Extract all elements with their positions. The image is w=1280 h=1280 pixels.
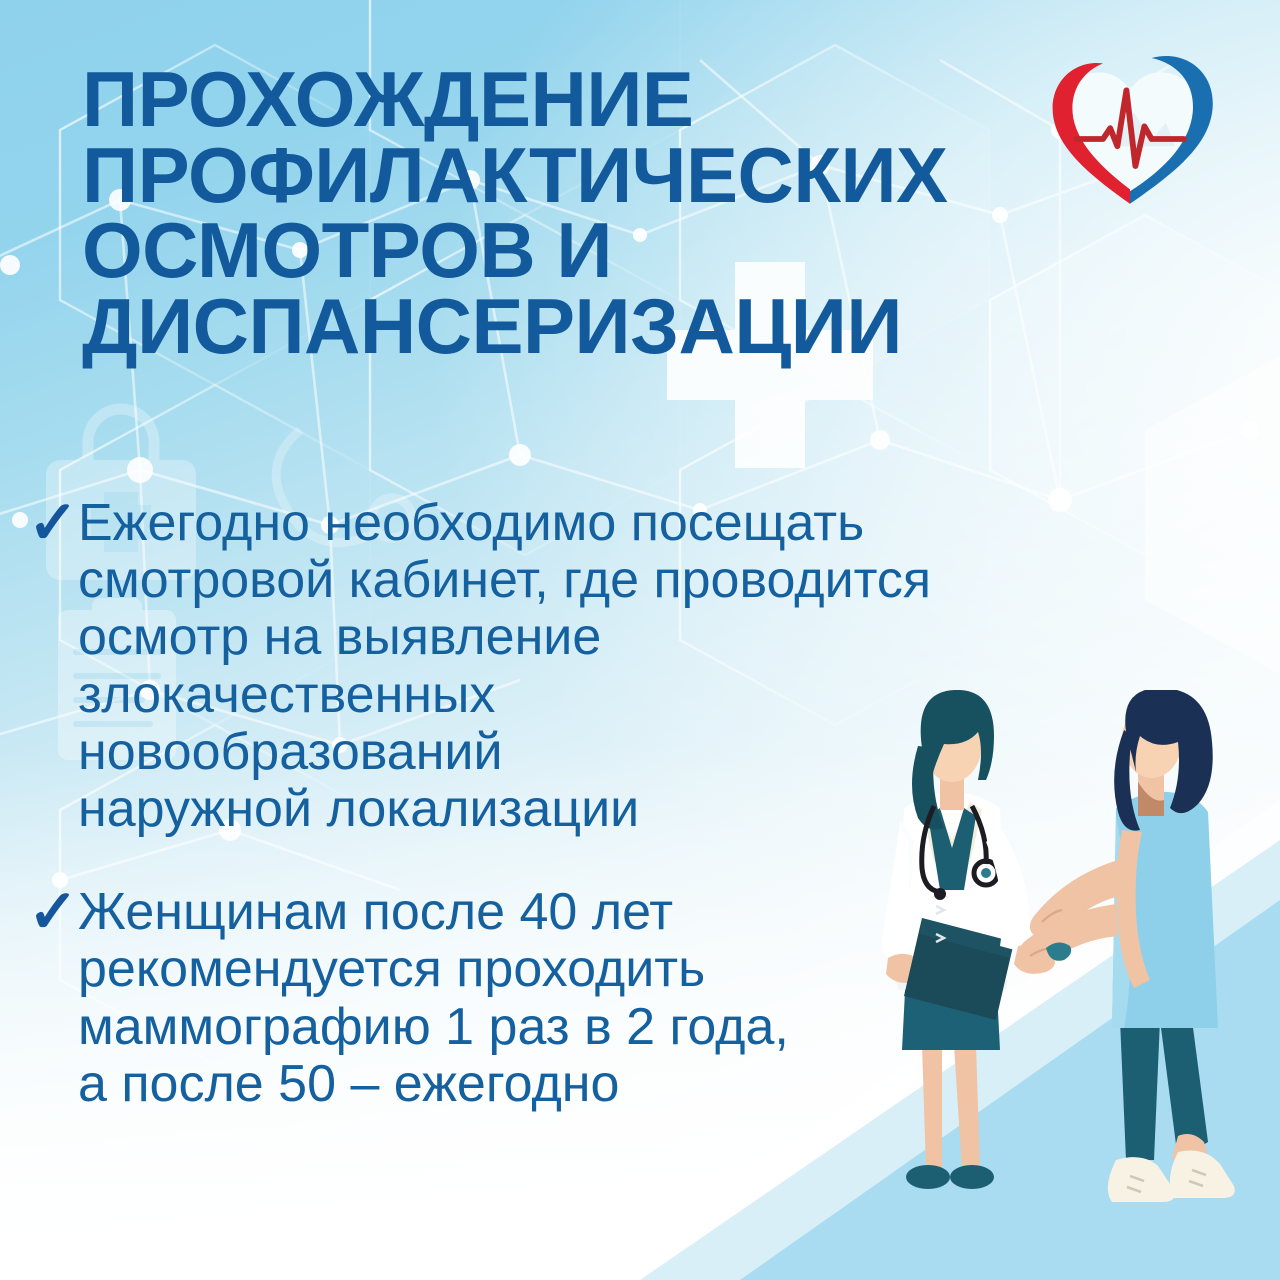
bullet-1-line-3: осмотр на выявление (78, 609, 931, 666)
bullet-2-line-1: Женщинам после 40 лет (78, 884, 789, 941)
title-line-2: ПРОФИЛАКТИЧЕСКИХ (82, 138, 1062, 214)
bullet-2-line-4: а после 50 – ежегодно (78, 1056, 789, 1113)
bullet-1-line-1: Ежегодно необходимо посещать (78, 495, 931, 552)
poster-canvas: ПРОХОЖДЕНИЕ ПРОФИЛАКТИЧЕСКИХ ОСМОТРОВ И … (0, 0, 1280, 1280)
checkmark-icon: ✓ (28, 886, 84, 937)
bullet-1-line-5: новообразований (78, 724, 931, 781)
bullet-2-text: Женщинам после 40 лет рекомендуется прох… (78, 884, 789, 1113)
bullet-2-line-3: маммографию 1 раз в 2 года, (78, 999, 789, 1056)
checkmark-icon: ✓ (28, 497, 84, 548)
title-line-3: ОСМОТРОВ И (82, 213, 1062, 289)
title-line-4: ДИСПАНСЕРИЗАЦИИ (82, 289, 1062, 365)
title-line-1: ПРОХОЖДЕНИЕ (82, 62, 1062, 138)
patient-figure (1018, 690, 1235, 1202)
bullet-1-line-4: злокачественных (78, 667, 931, 724)
bullet-1-text: Ежегодно необходимо посещать смотровой к… (78, 495, 931, 838)
heart-pulse-logo (1040, 40, 1220, 220)
bullet-1-line-6: наружной локализации (78, 781, 931, 838)
page-title: ПРОХОЖДЕНИЕ ПРОФИЛАКТИЧЕСКИХ ОСМОТРОВ И … (82, 62, 1062, 365)
bullet-2-line-2: рекомендуется проходить (78, 941, 789, 998)
doctor-and-patient-illustration (830, 690, 1280, 1280)
bullet-1-line-2: смотровой кабинет, где проводится (78, 552, 931, 609)
